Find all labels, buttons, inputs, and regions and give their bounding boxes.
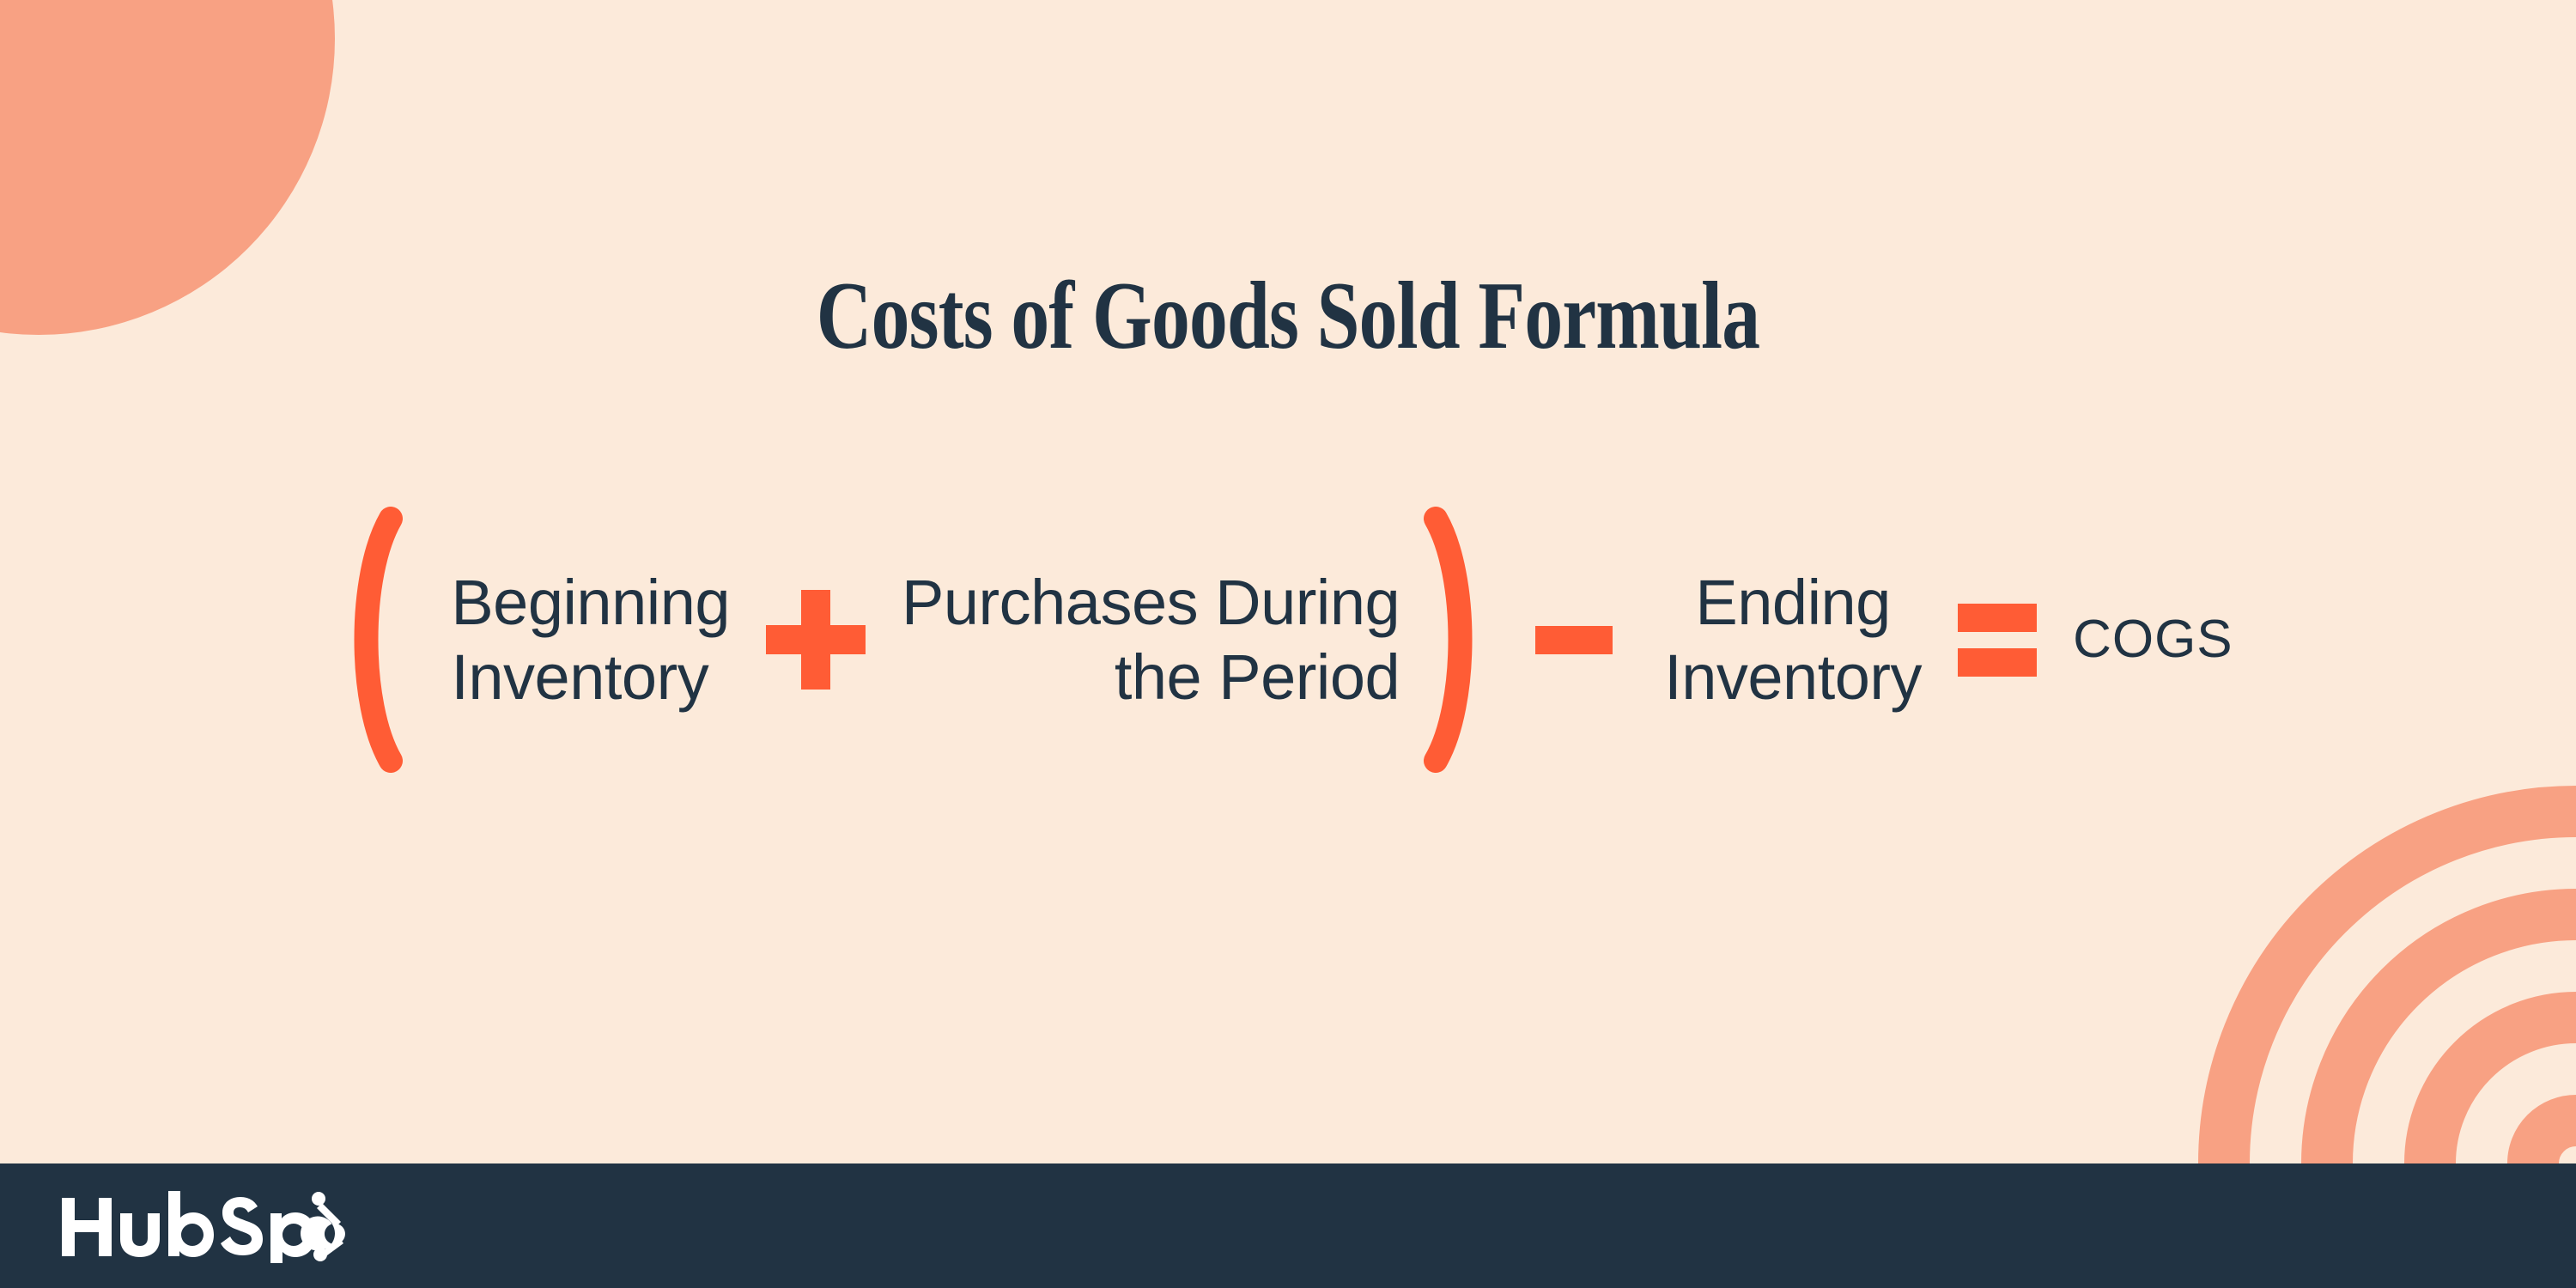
term-ending-inventory-line1: Ending: [1664, 565, 1922, 640]
minus-operator-icon: [1535, 626, 1613, 654]
term-beginning-inventory: Beginning Inventory: [451, 565, 730, 715]
formula-expression: Beginning Inventory Purchases During the…: [0, 498, 2576, 781]
term-beginning-inventory-line2: Inventory: [451, 640, 730, 714]
term-ending-inventory: Ending Inventory: [1664, 565, 1922, 715]
footer-bar: [0, 1163, 2576, 1288]
open-paren-icon: [343, 507, 404, 773]
term-purchases-line1: Purchases During: [902, 565, 1400, 640]
term-beginning-inventory-line1: Beginning: [451, 565, 730, 640]
plus-operator-icon: [766, 590, 866, 690]
term-ending-inventory-line2: Inventory: [1664, 640, 1922, 714]
close-paren-icon: [1422, 507, 1484, 773]
infographic-canvas: Costs of Goods Sold Formula Beginning In…: [0, 0, 2576, 1288]
term-cogs-result: COGS: [2073, 608, 2233, 671]
term-purchases-line2: the Period: [902, 640, 1400, 714]
term-purchases-during-period: Purchases During the Period: [902, 565, 1400, 715]
hubspot-logo: [62, 1189, 345, 1263]
page-title: Costs of Goods Sold Formula: [258, 268, 2318, 364]
equals-operator-icon: [1958, 604, 2037, 677]
